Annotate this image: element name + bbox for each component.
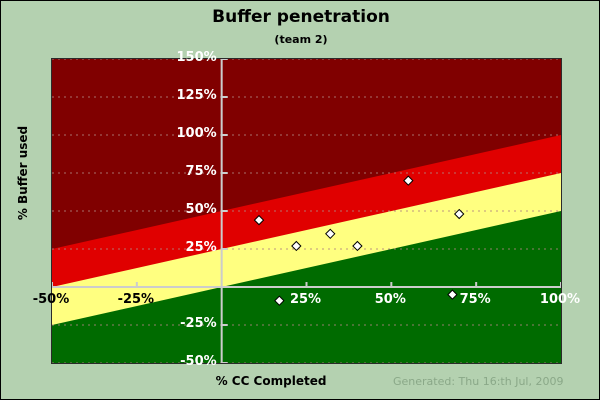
y-tick-label: -25% bbox=[165, 317, 217, 330]
x-tick-label: 100% bbox=[530, 293, 590, 306]
y-tick-label: 75% bbox=[165, 165, 217, 178]
y-tick-label: 25% bbox=[165, 241, 217, 254]
x-tick-label: 25% bbox=[276, 293, 336, 306]
y-axis-title: % Buffer used bbox=[16, 103, 30, 243]
y-tick-label: 50% bbox=[165, 203, 217, 216]
chart-root: Buffer penetration (team 2) % Buffer use… bbox=[0, 0, 600, 400]
chart-subtitle: (team 2) bbox=[1, 33, 600, 46]
y-tick-label: 150% bbox=[165, 51, 217, 64]
x-tick-label: -25% bbox=[106, 293, 166, 306]
x-tick-label: 75% bbox=[445, 293, 505, 306]
x-axis-title: % CC Completed bbox=[171, 374, 371, 388]
y-tick-label: 100% bbox=[165, 127, 217, 140]
plot-area bbox=[51, 58, 562, 364]
y-tick-label: 125% bbox=[165, 89, 217, 102]
chart-title: Buffer penetration bbox=[1, 7, 600, 27]
x-tick-label: 50% bbox=[360, 293, 420, 306]
generated-timestamp: Generated: Thu 16:th Jul, 2009 bbox=[393, 375, 563, 388]
x-tick-label: -50% bbox=[21, 293, 81, 306]
y-tick-label: -50% bbox=[165, 355, 217, 368]
plot-canvas bbox=[52, 59, 561, 363]
